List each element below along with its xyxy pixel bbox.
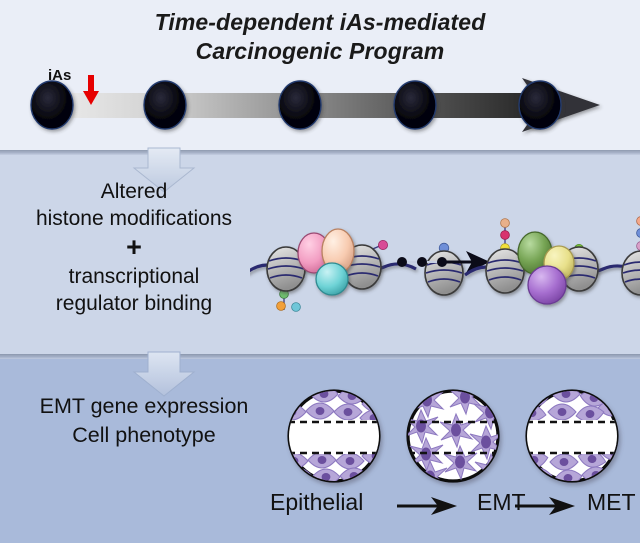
stage-label-met: MET [587, 489, 636, 516]
stage-arrow-1 [395, 495, 465, 517]
mid-line-3: transcriptional [10, 263, 258, 290]
protein-purple [528, 266, 566, 304]
stage-label-epithelial: Epithelial [270, 489, 363, 516]
timeline-graphic [0, 60, 640, 150]
progress-dot-3 [437, 257, 447, 267]
title-line-1: Time-dependent iAs-mediated [0, 8, 640, 37]
emt-phenotype-text: EMT gene expression Cell phenotype [4, 392, 284, 450]
epigenetic-changes-text: Altered histone modifications + transcri… [10, 178, 258, 317]
panel-divider-top [0, 150, 640, 155]
circle-met [517, 386, 628, 488]
flow-arrow-2 [120, 350, 210, 398]
circle-emt [405, 382, 508, 494]
protein-cyan [316, 263, 348, 295]
mid-line-4: regulator binding [10, 290, 258, 317]
plus-symbol: + [10, 232, 258, 263]
mid-line-1: Altered [10, 178, 258, 205]
nucleosome-late-3 [622, 251, 640, 295]
chromatin-cluster-late [465, 217, 640, 304]
bottom-line-1: EMT gene expression [4, 392, 284, 421]
bottom-line-2: Cell phenotype [4, 421, 284, 450]
stage-label-row: Epithelial EMT MET [270, 489, 640, 523]
cell-phenotype-circles [280, 382, 640, 494]
carcinogenesis-timeline: iAs [0, 60, 640, 150]
circle-epithelial [280, 386, 390, 485]
panel-divider-bottom [0, 354, 640, 359]
chromatin-cluster-early [250, 229, 463, 311]
mid-line-2: histone modifications [10, 205, 258, 232]
chromatin-diagram [250, 205, 640, 325]
progress-dot-1 [397, 257, 407, 267]
ias-exposure-label: iAs [48, 67, 71, 84]
stage-arrow-2 [513, 495, 583, 517]
figure-title: Time-dependent iAs-mediated Carcinogenic… [0, 8, 640, 66]
progress-dot-2 [417, 257, 427, 267]
figure-root: Time-dependent iAs-mediated Carcinogenic… [0, 0, 640, 543]
